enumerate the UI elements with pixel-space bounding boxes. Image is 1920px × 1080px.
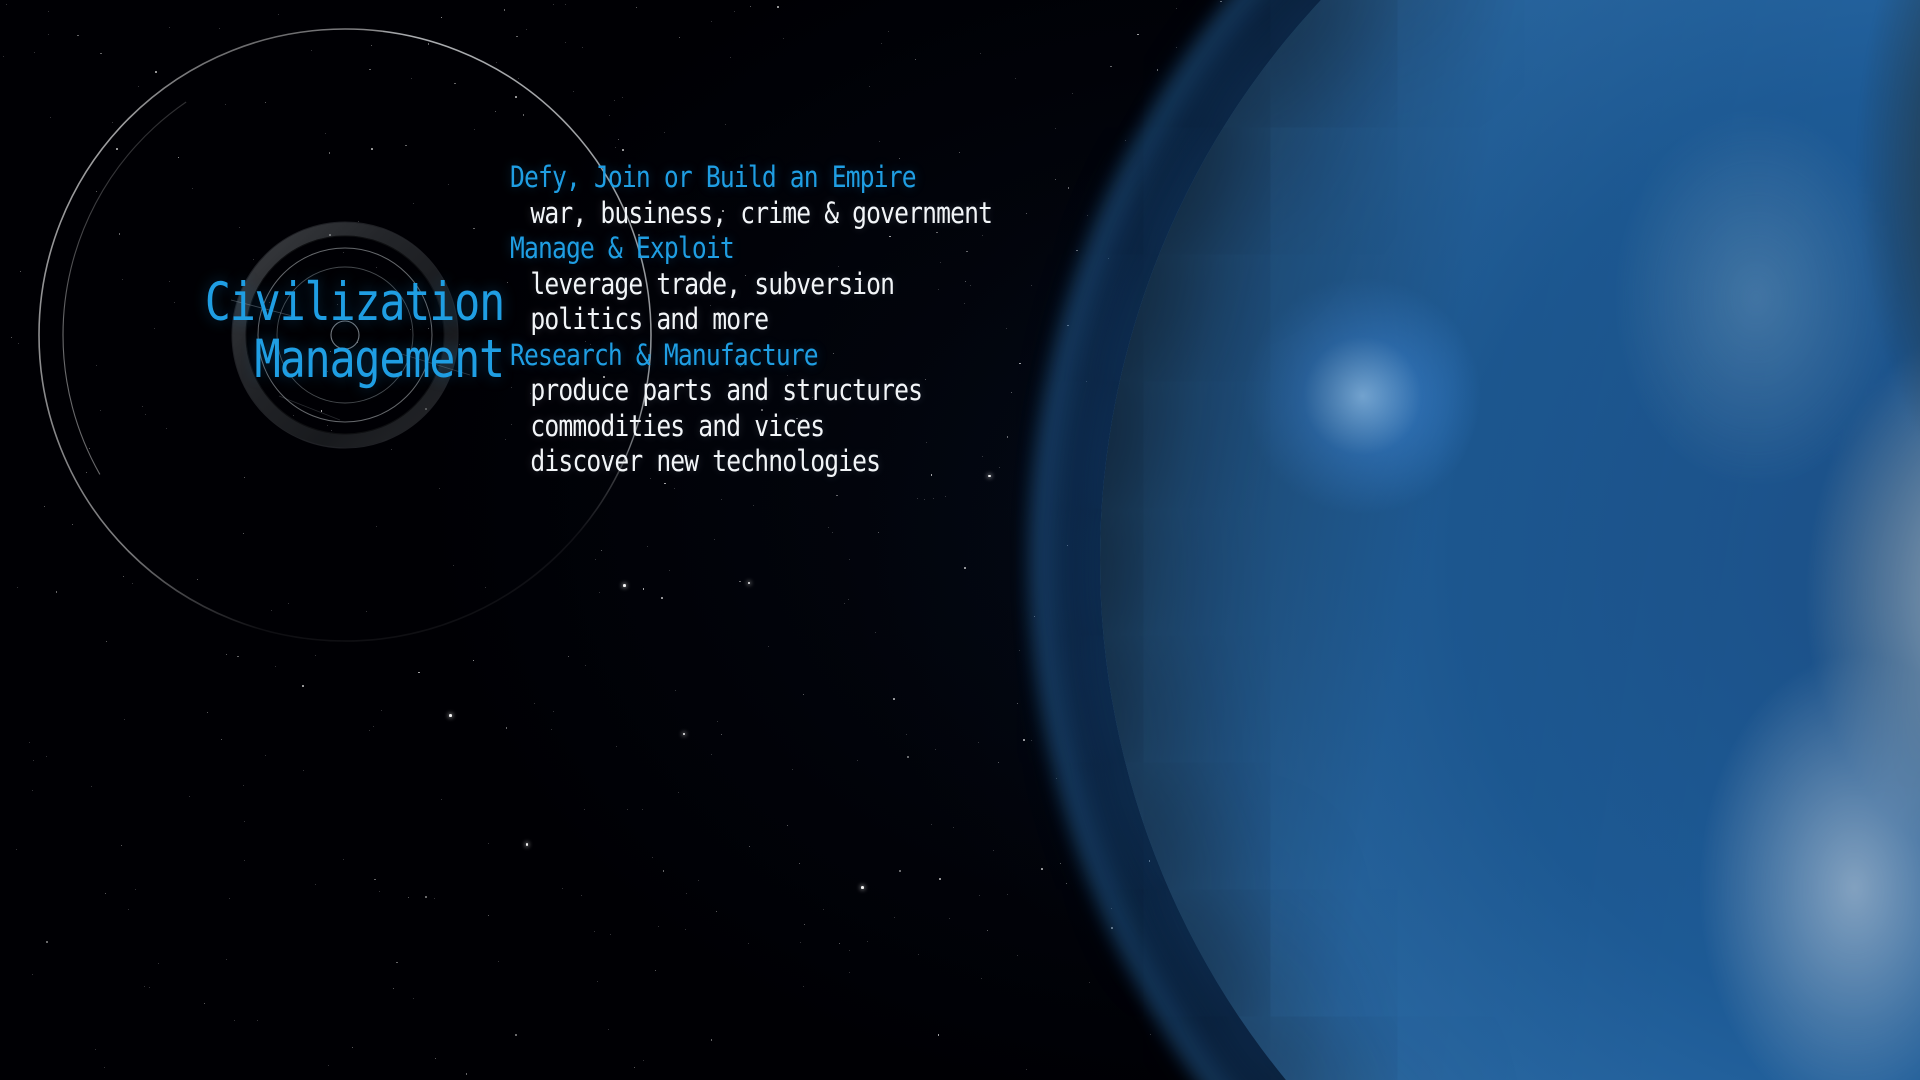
page-title-line-1: Civilization — [91, 274, 504, 331]
text-content: Civilization Management Defy, Join or Bu… — [0, 0, 1920, 1080]
feature-item: discover new technologies — [510, 444, 992, 480]
feature-heading: Manage & Exploit — [510, 231, 992, 267]
feature-item: leverage trade, subversion — [510, 267, 992, 303]
feature-item: produce parts and structures — [510, 373, 992, 409]
feature-heading: Defy, Join or Build an Empire — [510, 160, 992, 196]
feature-item: war, business, crime & government — [510, 196, 992, 232]
feature-list: Defy, Join or Build an Empirewar, busine… — [510, 160, 992, 480]
feature-item: commodities and vices — [510, 409, 992, 445]
page-title-line-2: Management — [91, 331, 504, 388]
scene-root: Civilization Management Defy, Join or Bu… — [0, 0, 1920, 1080]
feature-item: politics and more — [510, 302, 992, 338]
feature-heading: Research & Manufacture — [510, 338, 992, 374]
page-title: Civilization Management — [91, 274, 504, 388]
